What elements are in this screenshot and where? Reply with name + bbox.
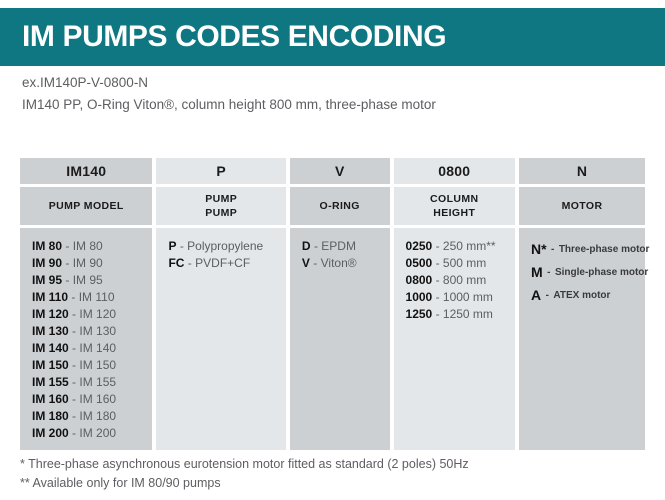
- column-code-pump-model: IM140: [20, 158, 152, 184]
- column-body-o-ring: D - EPDM V - Viton®: [290, 228, 390, 450]
- list-item: M - Single-phase motor: [531, 261, 645, 284]
- entry-description: PVDF+CF: [195, 256, 250, 270]
- encoding-table: IM140 PUMP MODEL IM 80 - IM 80 IM 90 - I…: [20, 158, 645, 450]
- list-item: IM 90 - IM 90: [32, 255, 152, 272]
- column-label-line1: PUMP: [205, 192, 237, 206]
- entry-code: 1250: [406, 307, 433, 321]
- entry-separator: -: [65, 273, 69, 287]
- entry-code: IM 150: [32, 358, 69, 372]
- column-label-column-height: COLUMN HEIGHT: [394, 187, 516, 225]
- entry-code: IM 155: [32, 375, 69, 389]
- entry-code: IM 140: [32, 341, 69, 355]
- column-label-line1: MOTOR: [562, 199, 603, 213]
- entry-code: IM 200: [32, 426, 69, 440]
- footnote-single-asterisk: * Three-phase asynchronous eurotension m…: [20, 455, 640, 474]
- entry-description: IM 200: [79, 426, 116, 440]
- column-body-motor: N* - Three-phase motor M - Single-phase …: [519, 228, 645, 450]
- entry-separator: -: [180, 239, 184, 253]
- entry-code: 0250: [406, 239, 433, 253]
- column-code-pump: P: [156, 158, 285, 184]
- list-item: IM 150 - IM 150: [32, 357, 152, 374]
- column-label-line2: PUMP: [205, 206, 237, 220]
- list-item: 0800 - 800 mm: [406, 272, 516, 289]
- entry-code: 1000: [406, 290, 433, 304]
- list-item: 1250 - 1250 mm: [406, 306, 516, 323]
- entry-description: 800 mm: [443, 273, 486, 287]
- entry-separator: -: [313, 256, 317, 270]
- list-item: V - Viton®: [302, 255, 390, 272]
- column-code-o-ring: V: [290, 158, 390, 184]
- entry-description: IM 180: [79, 409, 116, 423]
- column-body-pump-model: IM 80 - IM 80 IM 90 - IM 90 IM 95 - IM 9…: [20, 228, 152, 450]
- entry-code: P: [168, 239, 176, 253]
- example-block: ex.IM140P-V-0800-N IM140 PP, O-Ring Vito…: [22, 72, 642, 116]
- table-column-motor: N MOTOR N* - Three-phase motor M - Singl…: [519, 158, 645, 450]
- entry-description: EPDM: [321, 239, 356, 253]
- entry-separator: -: [436, 307, 440, 321]
- list-item: IM 200 - IM 200: [32, 425, 152, 442]
- list-item: IM 95 - IM 95: [32, 272, 152, 289]
- entry-separator: -: [436, 290, 440, 304]
- entry-separator: -: [65, 256, 69, 270]
- entry-description: IM 155: [79, 375, 116, 389]
- entry-code: 0800: [406, 273, 433, 287]
- entry-description: IM 130: [79, 324, 116, 338]
- example-description: IM140 PP, O-Ring Viton®, column height 8…: [22, 94, 642, 116]
- column-code-column-height: 0800: [394, 158, 516, 184]
- entry-separator: -: [72, 358, 76, 372]
- entry-code: IM 95: [32, 273, 62, 287]
- entry-code: N*: [531, 241, 547, 257]
- entry-description: Polypropylene: [187, 239, 263, 253]
- list-item: 0250 - 250 mm**: [406, 238, 516, 255]
- entry-description: 250 mm**: [443, 239, 496, 253]
- entry-separator: -: [314, 239, 318, 253]
- list-item: IM 80 - IM 80: [32, 238, 152, 255]
- list-item: 1000 - 1000 mm: [406, 289, 516, 306]
- entry-separator: -: [547, 267, 550, 278]
- entry-separator: -: [72, 392, 76, 406]
- list-item: P - Polypropylene: [168, 238, 285, 255]
- entry-separator: -: [436, 273, 440, 287]
- table-column-pump: P PUMP PUMP P - Polypropylene FC - PVDF+…: [156, 158, 285, 450]
- entry-separator: -: [65, 239, 69, 253]
- title-banner: IM PUMPS CODES ENCODING: [0, 8, 665, 66]
- column-code-motor: N: [519, 158, 645, 184]
- entry-code: V: [302, 256, 310, 270]
- entry-separator: -: [71, 290, 75, 304]
- entry-code: IM 110: [32, 290, 68, 304]
- entry-separator: -: [72, 341, 76, 355]
- list-item: A - ATEX motor: [531, 284, 645, 307]
- entry-separator: -: [436, 239, 440, 253]
- entry-separator: -: [546, 290, 549, 301]
- entry-code: D: [302, 239, 311, 253]
- entry-description: 1250 mm: [443, 307, 493, 321]
- entry-description: Viton®: [321, 256, 357, 270]
- page-title: IM PUMPS CODES ENCODING: [0, 20, 446, 54]
- entry-code: IM 130: [32, 324, 69, 338]
- entry-code: IM 180: [32, 409, 69, 423]
- entry-description: IM 80: [73, 239, 103, 253]
- column-label-pump: PUMP PUMP: [156, 187, 285, 225]
- entry-description: ATEX motor: [553, 290, 610, 301]
- entry-description: 1000 mm: [443, 290, 493, 304]
- entry-code: M: [531, 264, 543, 280]
- entry-description: IM 110: [79, 290, 115, 304]
- footnote-double-asterisk: ** Available only for IM 80/90 pumps: [20, 474, 640, 493]
- entry-description: IM 140: [79, 341, 116, 355]
- entry-code: IM 90: [32, 256, 62, 270]
- column-label-line2: HEIGHT: [433, 206, 475, 220]
- list-item: IM 140 - IM 140: [32, 340, 152, 357]
- entry-description: IM 160: [79, 392, 116, 406]
- entry-separator: -: [188, 256, 192, 270]
- entry-description: 500 mm: [443, 256, 486, 270]
- list-item: IM 160 - IM 160: [32, 391, 152, 408]
- entry-separator: -: [436, 256, 440, 270]
- column-label-pump-model: PUMP MODEL: [20, 187, 152, 225]
- list-item: N* - Three-phase motor: [531, 238, 645, 261]
- column-body-column-height: 0250 - 250 mm** 0500 - 500 mm 0800 - 800…: [394, 228, 516, 450]
- column-label-motor: MOTOR: [519, 187, 645, 225]
- list-item: IM 130 - IM 130: [32, 323, 152, 340]
- entry-code: FC: [168, 256, 184, 270]
- table-column-o-ring: V O-RING D - EPDM V - Viton®: [290, 158, 390, 450]
- entry-separator: -: [72, 375, 76, 389]
- column-label-line1: PUMP MODEL: [49, 199, 124, 213]
- entry-code: 0500: [406, 256, 433, 270]
- list-item: IM 120 - IM 120: [32, 306, 152, 323]
- entry-code: A: [531, 287, 541, 303]
- entry-description: Single-phase motor: [555, 267, 648, 278]
- entry-separator: -: [72, 426, 76, 440]
- column-label-line1: O-RING: [320, 199, 360, 213]
- footnotes-block: * Three-phase asynchronous eurotension m…: [20, 455, 640, 493]
- example-code: ex.IM140P-V-0800-N: [22, 72, 642, 94]
- list-item: IM 180 - IM 180: [32, 408, 152, 425]
- entry-description: IM 150: [79, 358, 116, 372]
- entry-separator: -: [72, 324, 76, 338]
- entry-code: IM 80: [32, 239, 62, 253]
- column-label-line1: COLUMN: [430, 192, 478, 206]
- entry-description: IM 95: [73, 273, 103, 287]
- list-item: D - EPDM: [302, 238, 390, 255]
- entry-code: IM 160: [32, 392, 69, 406]
- column-label-o-ring: O-RING: [290, 187, 390, 225]
- entry-separator: -: [72, 409, 76, 423]
- list-item: IM 155 - IM 155: [32, 374, 152, 391]
- list-item: FC - PVDF+CF: [168, 255, 285, 272]
- entry-description: IM 120: [79, 307, 116, 321]
- entry-separator: -: [72, 307, 76, 321]
- table-column-column-height: 0800 COLUMN HEIGHT 0250 - 250 mm** 0500 …: [394, 158, 516, 450]
- entry-description: Three-phase motor: [559, 244, 650, 255]
- column-body-pump: P - Polypropylene FC - PVDF+CF: [156, 228, 285, 450]
- entry-separator: -: [551, 244, 554, 255]
- table-column-pump-model: IM140 PUMP MODEL IM 80 - IM 80 IM 90 - I…: [20, 158, 152, 450]
- entry-code: IM 120: [32, 307, 69, 321]
- list-item: 0500 - 500 mm: [406, 255, 516, 272]
- entry-description: IM 90: [73, 256, 103, 270]
- list-item: IM 110 - IM 110: [32, 289, 152, 306]
